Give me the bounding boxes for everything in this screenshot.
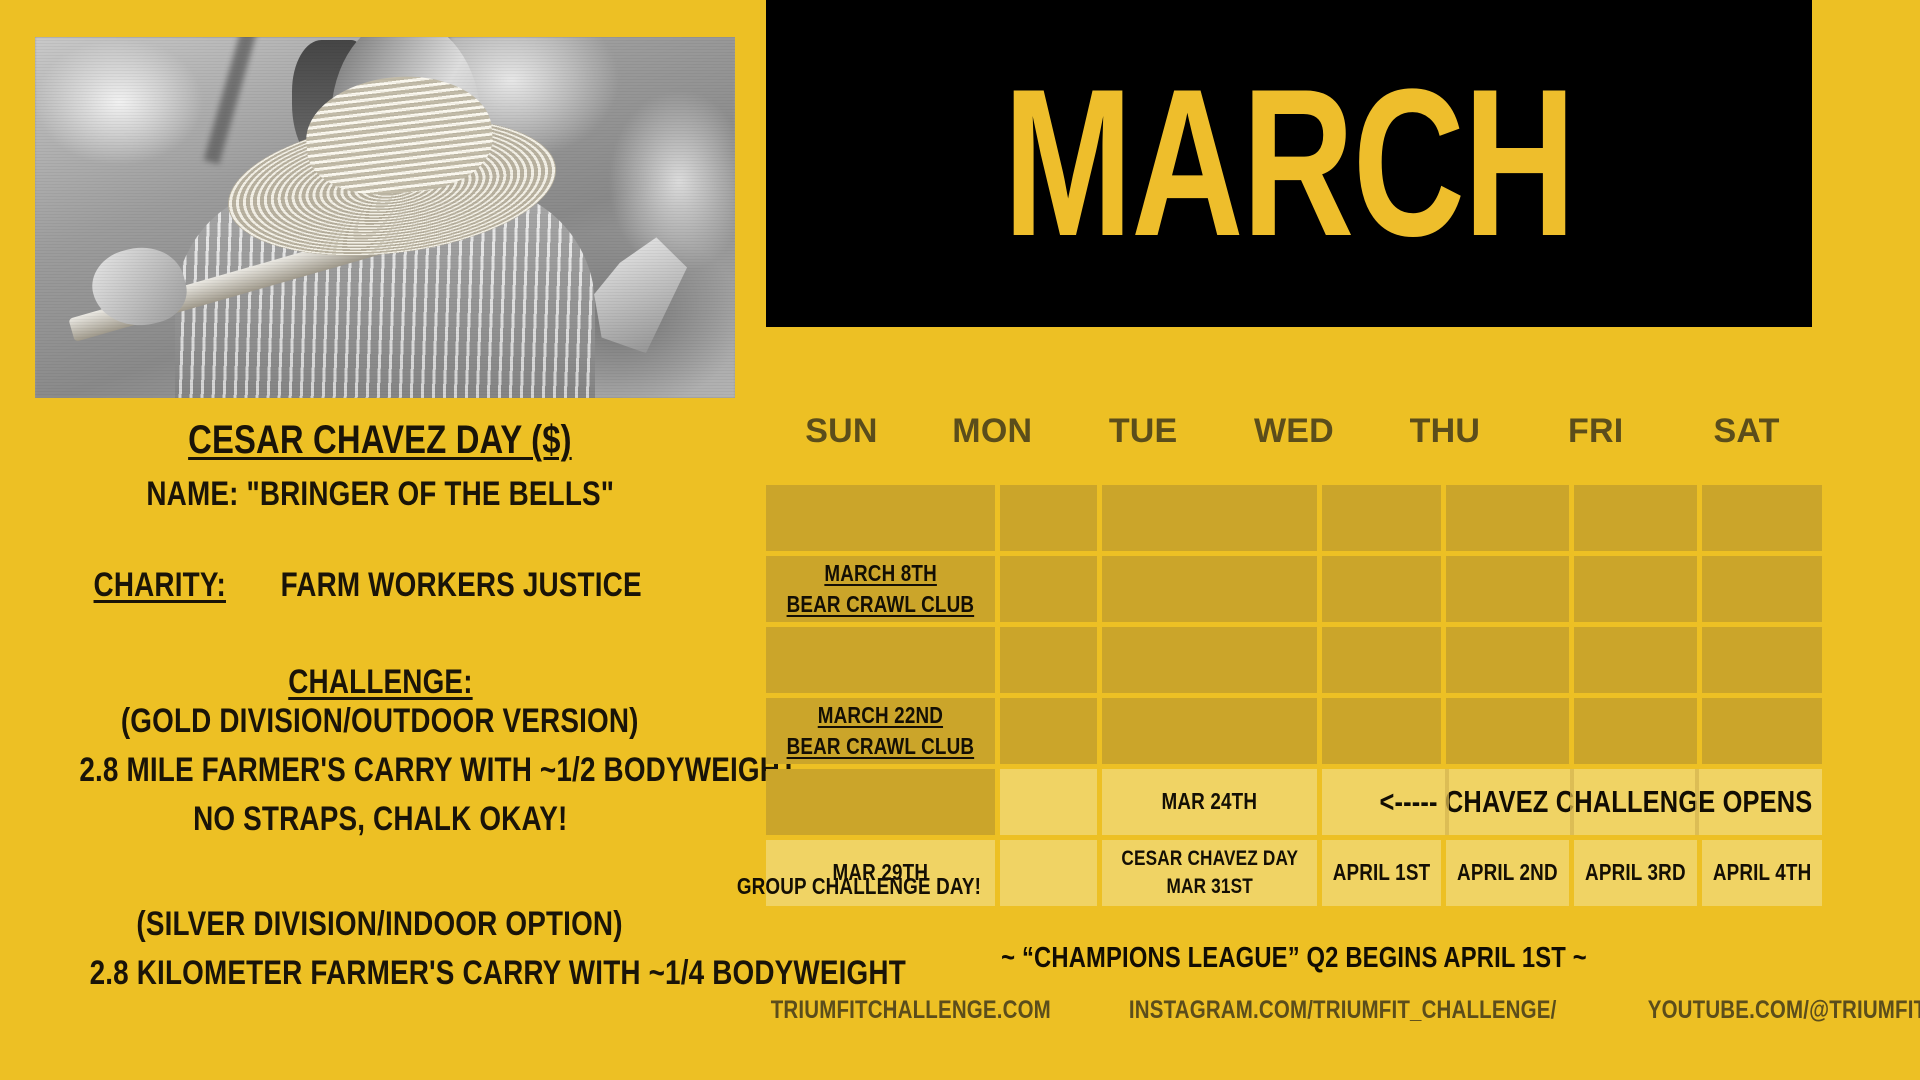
weekday-label: THU [1410,412,1480,450]
weekday-header-sat: SAT [1671,412,1822,451]
calendar-cell-w2-fri[interactable] [1574,556,1697,622]
challenge-division-gold: (GOLD DIVISION/OUTDOOR VERSION) [121,702,639,741]
challenge-heading-row: CHALLENGE: (GOLD DIVISION/OUTDOOR VERSIO… [0,663,760,741]
calendar-cell-line: MARCH 8TH [824,558,937,589]
weekday-header-wed: WED [1219,412,1370,451]
footer-links: TRIUMFITCHALLENGE.COMINSTAGRAM.COM/TRIUM… [740,996,1860,1025]
weekday-header-thu: THU [1369,412,1520,451]
calendar-cell-w5-mon[interactable] [1000,769,1097,835]
gold-detail-line-1-text: 2.8 MILE FARMER'S CARRY WITH ~1/2 BODYWE… [79,751,802,790]
champions-league-note: ~ “CHAMPIONS LEAGUE” Q2 BEGINS APRIL 1ST… [861,942,1727,975]
gold-detail-line-2-text: NO STRAPS, CHALK OKAY! [193,800,567,839]
calendar-cell-w3-sat[interactable] [1702,627,1822,693]
calendar-cell-w3-wed[interactable] [1322,627,1441,693]
calendar-cell-w2-tue[interactable] [1102,556,1318,622]
weekday-label: FRI [1568,412,1623,450]
silver-detail-line-1: 2.8 KILOMETER FARMER'S CARRY WITH ~1/4 B… [0,954,760,993]
weekday-header-fri: FRI [1520,412,1671,451]
calendar-cell-w2-thu[interactable] [1446,556,1569,622]
footer-link-1[interactable]: TRIUMFITCHALLENGE.COM [771,996,1051,1025]
calendar-cell-w4-sat[interactable] [1702,698,1822,764]
calendar-cell-w6-wed[interactable]: APRIL 1ST [1322,840,1441,906]
weekday-label: TUE [1109,412,1178,450]
silver-division-heading-text: (SILVER DIVISION/INDOOR OPTION) [137,905,623,944]
calendar-cell-w4-sun[interactable]: MARCH 22NDBEAR CRAWL CLUB [766,698,995,764]
calendar-cell-w3-fri[interactable] [1574,627,1697,693]
calendar-cell-line: BEAR CRAWL CLUB [787,731,975,762]
challenge-nickname-text: NAME: "BRINGER OF THE BELLS" [146,475,614,514]
calendar-cell-w1-mon[interactable] [1000,485,1097,551]
calendar-cell-line: APRIL 2ND [1457,857,1558,888]
calendar-cell-w2-mon[interactable] [1000,556,1097,622]
challenge-description: CESAR CHAVEZ DAY ($) NAME: "BRINGER OF T… [0,418,760,993]
calendar-cell-w4-tue[interactable] [1102,698,1318,764]
weekday-header-tue: TUE [1068,412,1219,451]
left-panel: CESAR CHAVEZ DAY ($) NAME: "BRINGER OF T… [0,0,760,1080]
footer-link-3[interactable]: YOUTUBE.COM/@TRIUMFITCHALLENGE [1648,996,1920,1025]
calendar-cell-w1-tue[interactable] [1102,485,1318,551]
calendar-cell-w6-mon[interactable] [1000,840,1097,906]
calendar-cell-line: BEAR CRAWL CLUB [787,589,975,620]
weekday-label: SUN [805,412,877,450]
challenge-nickname: NAME: "BRINGER OF THE BELLS" [0,475,760,514]
calendar-cell-w1-sun[interactable] [766,485,995,551]
calendar-cell-w1-wed[interactable] [1322,485,1441,551]
calendar-cell-w6-sun[interactable]: MAR 29THGROUP CHALLENGE DAY! [766,840,995,906]
calendar-cell-w3-mon[interactable] [1000,627,1097,693]
calendar-cell-w5-sun[interactable] [766,769,995,835]
calendar-cell-line: APRIL 1ST [1333,857,1431,888]
calendar-cell-w4-thu[interactable] [1446,698,1569,764]
charity-row: CHARITY: FARM WORKERS JUSTICE [0,566,760,605]
month-banner: MARCH [766,0,1812,327]
calendar-cell-line: APRIL 4TH [1713,857,1812,888]
calendar-cell-w3-sun[interactable] [766,627,995,693]
cesar-chavez-portrait [35,37,735,398]
weekday-header-sun: SUN [766,412,917,451]
calendar-cell-w3-thu[interactable] [1446,627,1569,693]
weekday-label: SAT [1714,412,1780,450]
weekday-header-row: SUNMONTUEWEDTHUFRISAT [766,412,1822,451]
calendar-cell-w2-sun[interactable]: MARCH 8THBEAR CRAWL CLUB [766,556,995,622]
silver-detail-line-1-text: 2.8 KILOMETER FARMER'S CARRY WITH ~1/4 B… [90,954,906,993]
calendar-cell-line: CESAR CHAVEZ DAY [1121,845,1298,873]
chavez-challenge-opens-banner[interactable]: <----- CHAVEZ CHALLENGE OPENS [1322,769,1822,835]
calendar-cell-line: APRIL 3RD [1585,857,1686,888]
weekday-label: MON [952,412,1032,450]
calendar-cell-w6-fri[interactable]: APRIL 3RD [1574,840,1697,906]
calendar-cell-w1-fri[interactable] [1574,485,1697,551]
calendar-cell-line: MAR 31ST [1166,873,1252,901]
calendar-cell-w4-mon[interactable] [1000,698,1097,764]
calendar-cell-line: MARCH 22ND [818,700,943,731]
weekday-label: WED [1254,412,1334,450]
month-title: MARCH [1004,73,1575,254]
footer-link-2[interactable]: INSTAGRAM.COM/TRIUMFIT_CHALLENGE/ [1129,996,1557,1025]
chavez-challenge-opens-label: <----- CHAVEZ CHALLENGE OPENS [1380,784,1813,820]
calendar-cell-w6-tue[interactable]: CESAR CHAVEZ DAYMAR 31ST [1102,840,1318,906]
photo-grain-overlay [35,37,735,398]
challenge-title: CESAR CHAVEZ DAY ($) [0,418,760,463]
challenge-label: CHALLENGE: [288,663,472,702]
weekday-header-mon: MON [917,412,1068,451]
calendar-cell-w1-sat[interactable] [1702,485,1822,551]
gold-detail-line-1: 2.8 MILE FARMER'S CARRY WITH ~1/2 BODYWE… [0,751,760,790]
calendar-cell-overflow-label: GROUP CHALLENGE DAY! [737,871,981,902]
calendar-cell-w6-thu[interactable]: APRIL 2ND [1446,840,1569,906]
calendar-cell-w5-tue[interactable]: MAR 24TH [1102,769,1318,835]
calendar-cell-w3-tue[interactable] [1102,627,1318,693]
charity-label: CHARITY: [94,566,226,605]
charity-value: FARM WORKERS JUSTICE [280,566,641,605]
calendar-cell-w4-fri[interactable] [1574,698,1697,764]
silver-division-heading: (SILVER DIVISION/INDOOR OPTION) [0,905,760,944]
gold-detail-line-2: NO STRAPS, CHALK OKAY! [0,800,760,839]
calendar-cell-w2-sat[interactable] [1702,556,1822,622]
calendar-cell-line: MAR 24TH [1162,786,1258,817]
challenge-title-text: CESAR CHAVEZ DAY ($) [188,418,572,463]
calendar-grid: MARCH 8THBEAR CRAWL CLUBMARCH 22NDBEAR C… [766,485,1822,906]
calendar-cell-w2-wed[interactable] [1322,556,1441,622]
calendar-cell-w4-wed[interactable] [1322,698,1441,764]
calendar-cell-w1-thu[interactable] [1446,485,1569,551]
calendar-cell-w6-sat[interactable]: APRIL 4TH [1702,840,1822,906]
